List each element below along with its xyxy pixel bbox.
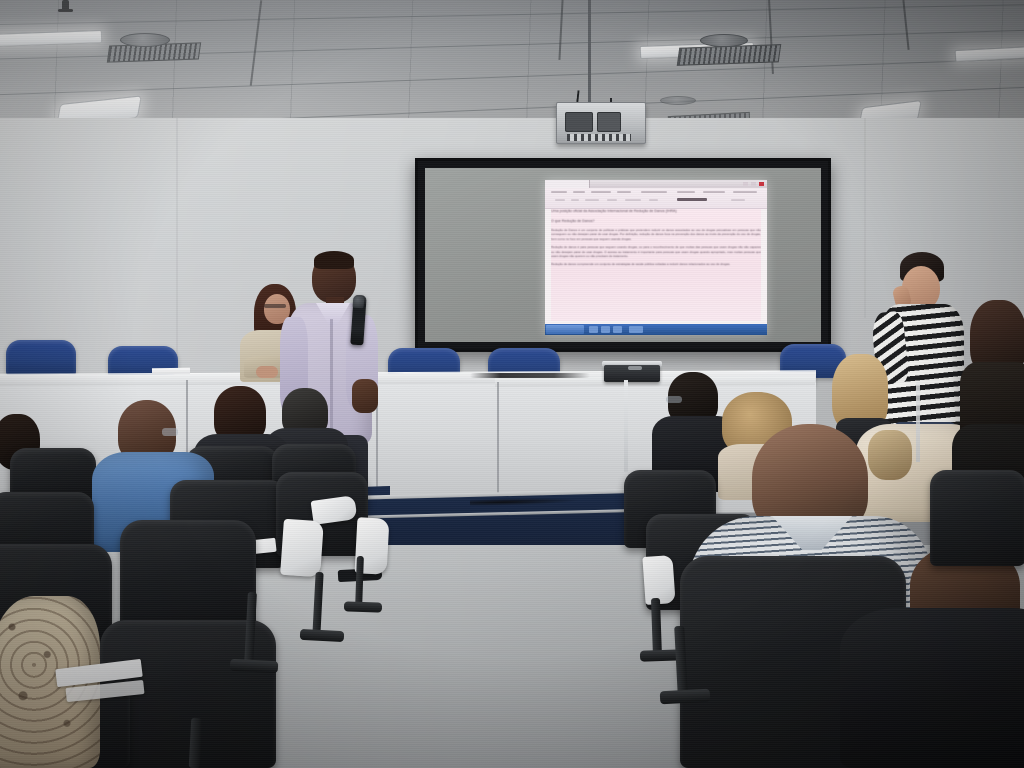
document-paragraph-1: Redução de Danos é um conjunto de políti…: [551, 228, 761, 241]
aisle-partition-right: [916, 382, 920, 462]
ceiling-projector: [556, 102, 646, 144]
seat-foot-r2: [660, 689, 711, 705]
equipment-case-handle[interactable]: [628, 366, 642, 370]
start-button[interactable]: [546, 325, 584, 334]
projector-lens-icon: [565, 112, 593, 132]
os-taskbar[interactable]: [545, 324, 767, 335]
projection-screen[interactable]: Uma posição oficial da Associação Intern…: [415, 158, 831, 352]
screen-surface: Uma posição oficial da Associação Intern…: [425, 168, 821, 342]
taskbar-item-3[interactable]: [613, 326, 622, 333]
writing-tablet-r1[interactable]: [642, 555, 675, 605]
attendee-blue-glasses-icon: [162, 428, 178, 436]
papers-on-table[interactable]: [152, 368, 190, 374]
presenter-hair: [314, 251, 354, 269]
writing-tablet-l3[interactable]: [280, 519, 324, 578]
window-tab[interactable]: [545, 180, 590, 188]
document-body[interactable]: Uma posição oficial da Associação Intern…: [551, 209, 761, 321]
seat-left-r3-b[interactable]: [120, 520, 256, 636]
tabletop-cables: [470, 373, 590, 378]
document-text-layer: Uma posição oficial da Associação Intern…: [551, 209, 761, 321]
seat-foot-l3: [344, 601, 382, 612]
seat-foot-l2: [300, 629, 345, 642]
attendee-glasses-icon: [666, 396, 682, 403]
taskbar-item-4[interactable]: [629, 326, 643, 333]
taskbar-item-1[interactable]: [589, 326, 598, 333]
panelist-hand: [256, 366, 278, 378]
projector-vent-panel: [597, 112, 621, 132]
attendee-cream-jacket-hair: [868, 430, 912, 480]
minimize-icon[interactable]: [743, 182, 748, 186]
document-paragraph-2: Redução de danos é para pessoas que segu…: [551, 245, 761, 258]
panelist-glasses-icon: [264, 304, 286, 308]
maximize-icon[interactable]: [751, 182, 756, 186]
projector-mount: [588, 0, 591, 104]
microphone-grille-icon: [353, 295, 365, 309]
document-paragraph-3: Redução de danos compreende um conjunto …: [551, 262, 761, 266]
seat-foot-l1: [230, 659, 279, 673]
window-controls[interactable]: [743, 182, 764, 186]
close-icon[interactable]: [759, 182, 764, 186]
presenter-placket: [330, 319, 333, 441]
window-ribbon-toolbar[interactable]: [545, 188, 767, 209]
taskbar-item-2[interactable]: [601, 326, 610, 333]
presenter-hand-right: [352, 379, 378, 413]
document-heading: O que Redução de Danos?: [551, 219, 761, 224]
projector-grille: [567, 134, 631, 141]
window-titlebar: [545, 180, 767, 188]
document-title: Uma posição oficial da Associação Intern…: [551, 209, 761, 214]
aisle-partition-left: [624, 380, 628, 472]
conference-room-photo: Uma posição oficial da Associação Intern…: [0, 0, 1024, 768]
blue-chair-1[interactable]: [6, 340, 76, 376]
foreground-right-jacket: [840, 608, 1024, 768]
seat-right-r4[interactable]: [930, 470, 1024, 566]
projected-document-window[interactable]: Uma posição oficial da Associação Intern…: [545, 180, 767, 335]
